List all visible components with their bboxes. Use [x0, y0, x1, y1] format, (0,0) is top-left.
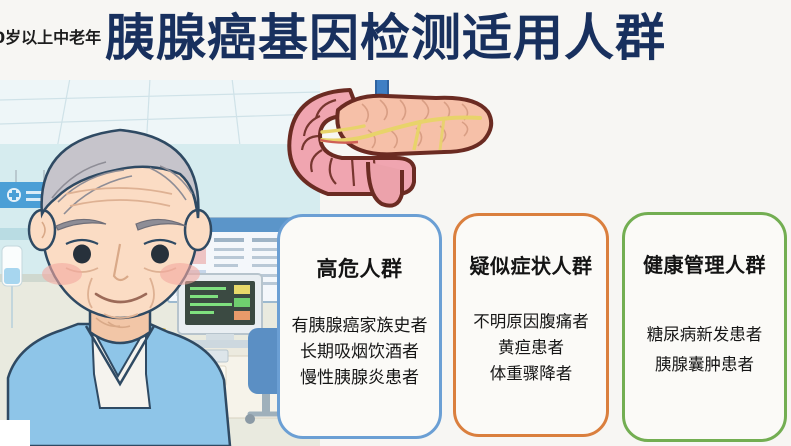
- card-item-list: 有胰腺癌家族史者 长期吸烟饮酒者 慢性胰腺炎患者: [280, 313, 439, 391]
- card-high-risk[interactable]: 高危人群 有胰腺癌家族史者 长期吸烟饮酒者 慢性胰腺炎患者: [277, 214, 442, 439]
- card-title: 疑似症状人群: [470, 250, 593, 279]
- list-item: 胰腺囊肿患者: [625, 350, 784, 380]
- side-note-text: 0岁以上中老年: [0, 24, 101, 48]
- pancreas-diagram-icon: [276, 74, 500, 212]
- card-health-management[interactable]: 健康管理人群 糖尿病新发患者 胰腺囊肿患者: [622, 212, 787, 442]
- hospital-scene-svg: [0, 78, 320, 446]
- list-item: 有胰腺癌家族史者: [280, 313, 439, 339]
- list-item: 不明原因腹痛者: [456, 309, 606, 335]
- corner-decoration: [0, 420, 30, 446]
- card-title: 高危人群: [317, 253, 403, 283]
- card-title: 健康管理人群: [643, 249, 766, 278]
- list-item: 慢性胰腺炎患者: [280, 365, 439, 391]
- list-item: 长期吸烟饮酒者: [280, 339, 439, 365]
- card-item-list: 糖尿病新发患者 胰腺囊肿患者: [625, 320, 784, 380]
- page-title: 胰腺癌基因检测适用人群: [105, 6, 666, 70]
- list-item: 糖尿病新发患者: [625, 320, 784, 350]
- patient-illustration: [0, 78, 320, 446]
- list-item: 黄疸患者: [456, 335, 606, 361]
- card-item-list: 不明原因腹痛者 黄疸患者 体重骤降者: [456, 309, 606, 387]
- poster-canvas: 0岁以上中老年 胰腺癌基因检测适用人群 高危人群 有胰腺癌家族史者 长期吸烟饮酒…: [0, 0, 791, 446]
- list-item: 体重骤降者: [456, 361, 606, 387]
- card-suspected-symptoms[interactable]: 疑似症状人群 不明原因腹痛者 黄疸患者 体重骤降者: [453, 213, 609, 437]
